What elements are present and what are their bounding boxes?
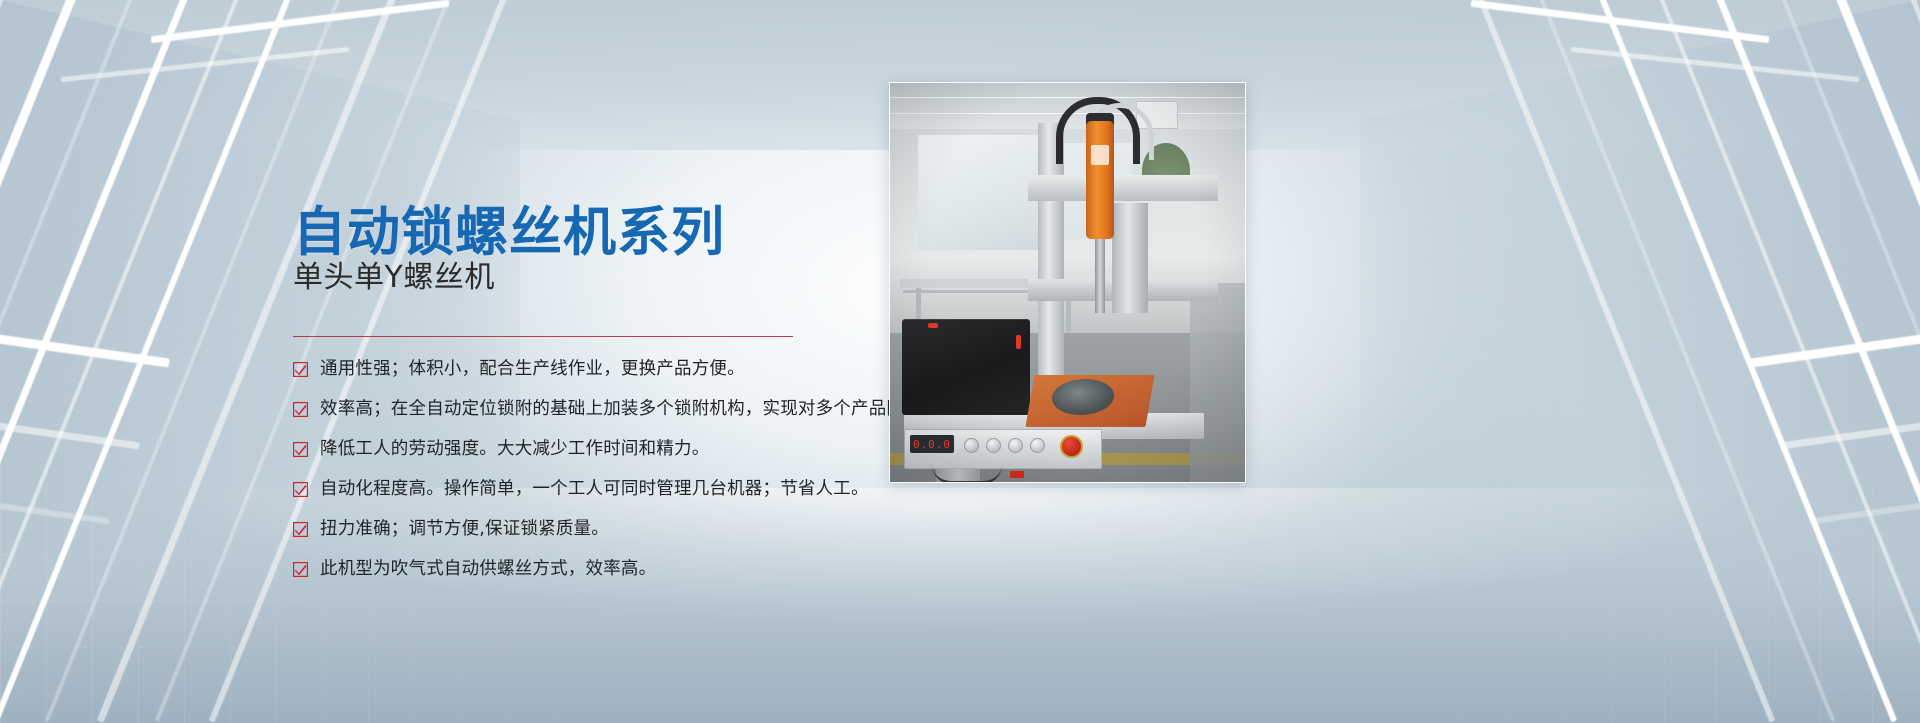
list-item: 降低工人的劳动强度。大大减少工作时间和精力。: [293, 438, 1473, 461]
feature-text: 效率高；在全自动定位锁附的基础上加装多个锁附机构，实现对多个产品同时锁附。: [320, 398, 975, 421]
feature-text: 扭力准确；调节方便,保证锁紧质量。: [320, 518, 609, 541]
photo-vignette: [890, 83, 1245, 482]
list-item: 通用性强；体积小，配合生产线作业，更换产品方便。: [293, 358, 1473, 381]
feature-text: 自动化程度高。操作简单，一个工人可同时管理几台机器；节省人工。: [320, 478, 869, 501]
page-subtitle: 单头单Y螺丝机: [293, 259, 495, 297]
title-divider: [293, 336, 793, 337]
check-icon: [293, 402, 308, 417]
feature-list: 通用性强；体积小，配合生产线作业，更换产品方便。 效率高；在全自动定位锁附的基础…: [293, 358, 1473, 598]
list-item: 自动化程度高。操作简单，一个工人可同时管理几台机器；节省人工。: [293, 478, 1473, 501]
check-icon: [293, 522, 308, 537]
feature-text: 降低工人的劳动强度。大大减少工作时间和精力。: [320, 438, 709, 461]
list-item: 扭力准确；调节方便,保证锁紧质量。: [293, 518, 1473, 541]
product-photo: 0.0.0: [889, 82, 1246, 483]
list-item: 效率高；在全自动定位锁附的基础上加装多个锁附机构，实现对多个产品同时锁附。: [293, 398, 1473, 421]
check-icon: [293, 562, 308, 577]
check-icon: [293, 362, 308, 377]
product-banner: 自动锁螺丝机系列 单头单Y螺丝机 通用性强；体积小，配合生产线作业，更换产品方便…: [0, 0, 1920, 723]
check-icon: [293, 482, 308, 497]
page-title: 自动锁螺丝机系列: [293, 203, 725, 263]
check-icon: [293, 442, 308, 457]
feature-text: 通用性强；体积小，配合生产线作业，更换产品方便。: [320, 358, 745, 381]
feature-text: 此机型为吹气式自动供螺丝方式，效率高。: [320, 558, 656, 581]
banner-content: 自动锁螺丝机系列 单头单Y螺丝机 通用性强；体积小，配合生产线作业，更换产品方便…: [0, 0, 1920, 723]
list-item: 此机型为吹气式自动供螺丝方式，效率高。: [293, 558, 1473, 581]
